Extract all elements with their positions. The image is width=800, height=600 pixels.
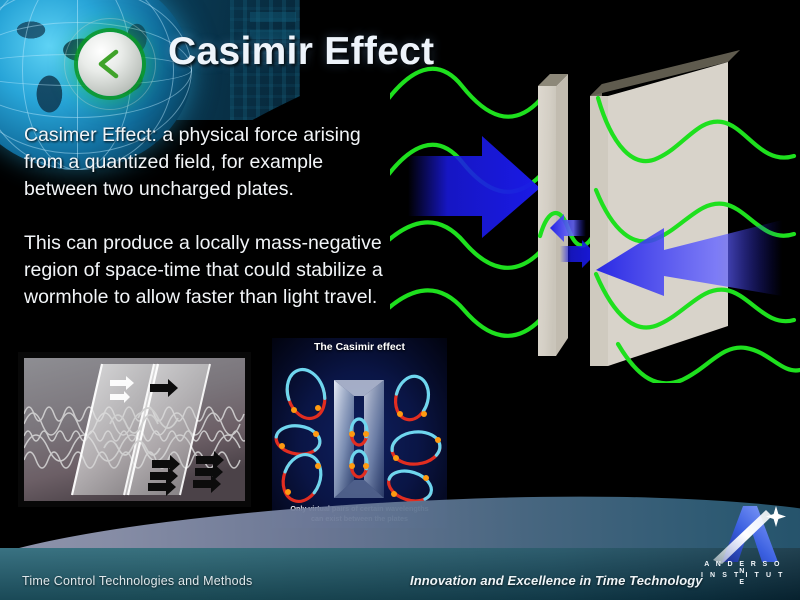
slide-canvas: Casimir Effect Casimer Effect: a physica… — [0, 0, 800, 600]
logo-a-mark — [700, 500, 786, 570]
slide-body-text: Casimer Effect: a physical force arising… — [24, 122, 392, 311]
figure-left-grayscale — [18, 352, 251, 507]
figure-center-casimir: The Casimir effect — [272, 338, 447, 528]
footer-right-text: Innovation and Excellence in Time Techno… — [410, 573, 703, 588]
back-button-glow-ring — [64, 18, 156, 110]
back-button[interactable] — [78, 32, 142, 96]
footer-left-text: Time Control Technologies and Methods — [22, 574, 252, 588]
anderson-institute-logo[interactable]: A N D E R S O N I N S T I T U T E — [700, 500, 786, 592]
chip-block — [250, 12, 296, 22]
body-paragraph-1: Casimer Effect: a physical force arising… — [24, 122, 392, 203]
body-paragraph-2: This can produce a locally mass-negative… — [24, 230, 392, 311]
casimir-plates-illustration — [390, 38, 800, 383]
logo-text-line2: I N S T I T U T E — [700, 572, 786, 586]
virtual-particle-loops — [272, 352, 447, 512]
plate-right — [590, 50, 740, 366]
